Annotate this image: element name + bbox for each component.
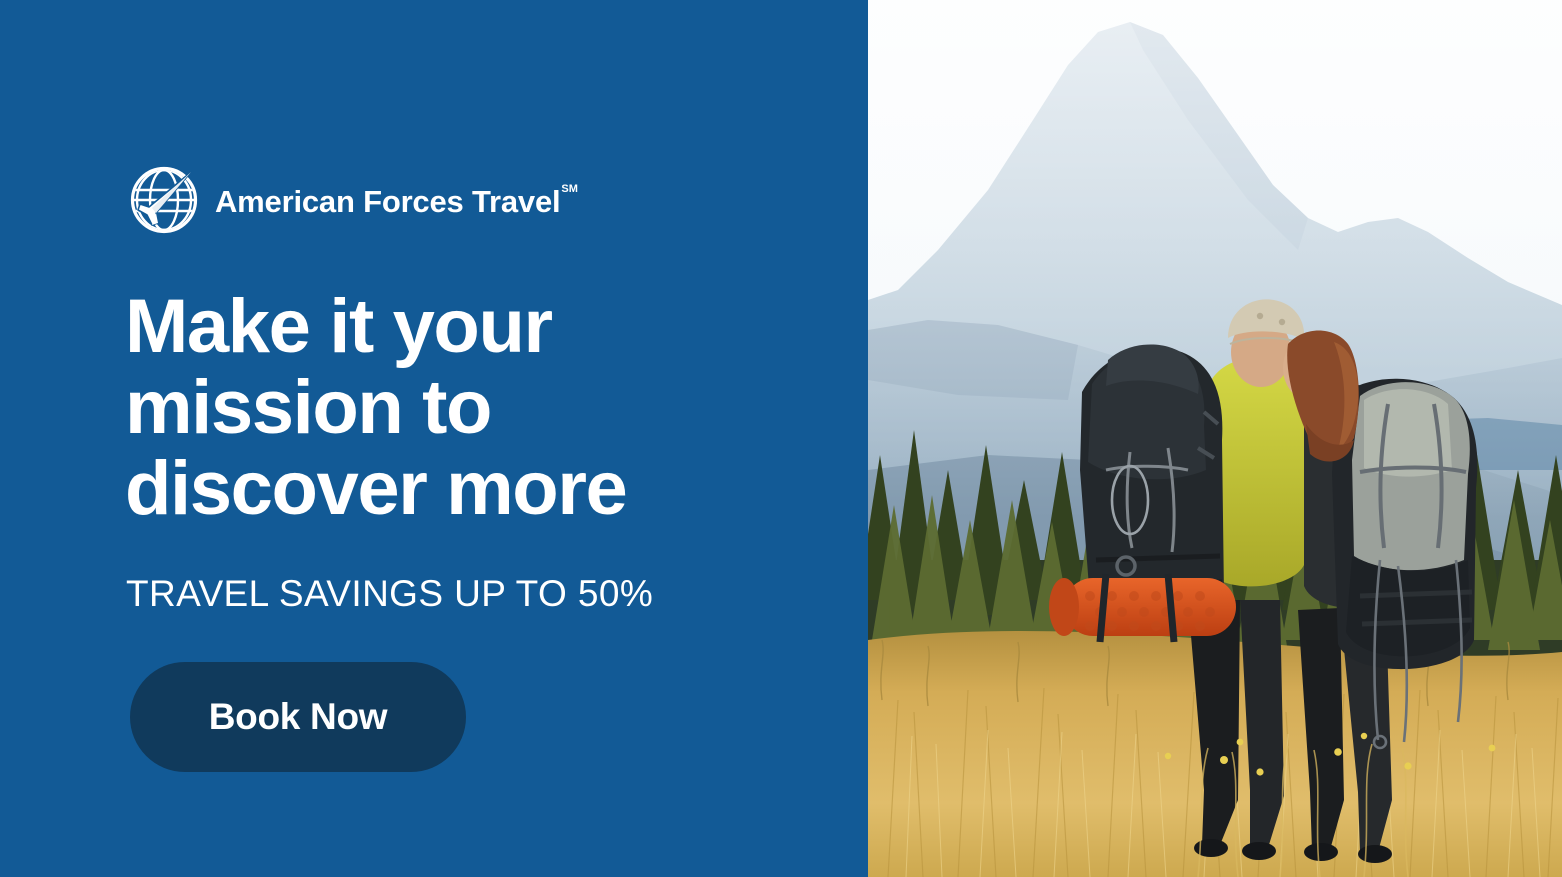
globe-compass-arrow-icon: [127, 163, 201, 237]
promotional-banner: American Forces TravelSM Make it your mi…: [0, 0, 1562, 877]
headline-line-2: mission to: [125, 367, 785, 448]
content-panel: American Forces TravelSM Make it your mi…: [0, 0, 868, 877]
hero-photograph: [868, 0, 1562, 877]
headline: Make it your mission to discover more: [125, 286, 785, 529]
brand-wordmark: American Forces TravelSM: [215, 183, 577, 217]
book-now-button[interactable]: Book Now: [130, 662, 466, 772]
brand-logo[interactable]: American Forces TravelSM: [127, 162, 577, 238]
brand-wordmark-text: American Forces Travel: [215, 184, 560, 219]
headline-line-3: discover more: [125, 448, 785, 529]
headline-line-1: Make it your: [125, 286, 785, 367]
subheadline: TRAVEL SAVINGS UP TO 50%: [126, 572, 653, 616]
service-mark: SM: [561, 183, 578, 195]
